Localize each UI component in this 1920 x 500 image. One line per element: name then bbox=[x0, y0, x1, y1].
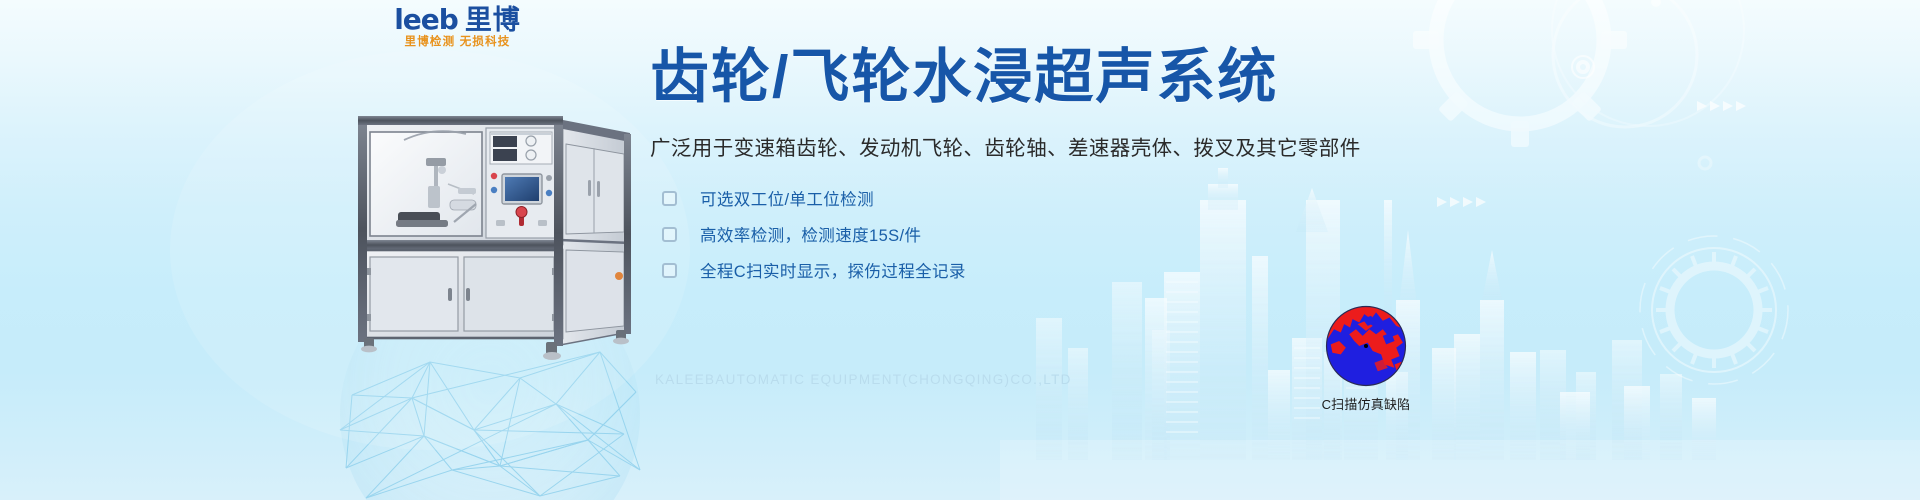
logo-wordmark: leeb 里博 bbox=[345, 6, 570, 34]
page-title: 齿轮/飞轮水浸超声系统 bbox=[650, 44, 1830, 110]
feature-item-2[interactable]: 高效率检测，检测速度15S/件 bbox=[650, 217, 1830, 251]
checkbox-icon[interactable] bbox=[662, 191, 677, 206]
company-logo[interactable]: leeb 里博 里博检测 无损科技 bbox=[345, 6, 570, 49]
feature-item-1[interactable]: 可选双工位/单工位检测 bbox=[650, 181, 1830, 215]
company-watermark: KALEEBAUTOMATIC EQUIPMENT(CHONGQING)CO.,… bbox=[655, 372, 1072, 387]
page-subtitle: 广泛用于变速箱齿轮、发动机飞轮、齿轮轴、差速器壳体、拨叉及其它零部件 bbox=[650, 131, 1830, 161]
dot-decoration bbox=[1651, 0, 1661, 7]
logo-latin-text: leeb bbox=[394, 6, 458, 34]
cscan-defect-image bbox=[1324, 304, 1408, 388]
feature-item-3[interactable]: 全程C扫实时显示，探伤过程全记录 bbox=[650, 253, 1830, 287]
machine-illustration bbox=[338, 100, 648, 365]
logo-chinese-text: 里博 bbox=[465, 7, 521, 34]
checkbox-icon[interactable] bbox=[662, 263, 677, 278]
feature-list: 可选双工位/单工位检测 高效率检测，检测速度15S/件 全程C扫实时显示，探伤过… bbox=[650, 181, 1830, 287]
logo-tagline: 里博检测 无损科技 bbox=[345, 37, 570, 49]
feature-label: 可选双工位/单工位检测 bbox=[700, 186, 874, 210]
cscan-caption: C扫描仿真缺陷 bbox=[1318, 394, 1414, 413]
feature-label: 全程C扫实时显示，探伤过程全记录 bbox=[700, 258, 966, 282]
checkbox-icon[interactable] bbox=[662, 227, 677, 242]
hero-content: 齿轮/飞轮水浸超声系统 广泛用于变速箱齿轮、发动机飞轮、齿轮轴、差速器壳体、拨叉… bbox=[650, 44, 1830, 289]
feature-label: 高效率检测，检测速度15S/件 bbox=[700, 222, 921, 246]
cscan-sample: C扫描仿真缺陷 bbox=[1318, 304, 1414, 413]
machine-product-photo bbox=[338, 100, 648, 365]
hero-banner: leeb 里博 里博检测 无损科技 bbox=[0, 0, 1920, 500]
